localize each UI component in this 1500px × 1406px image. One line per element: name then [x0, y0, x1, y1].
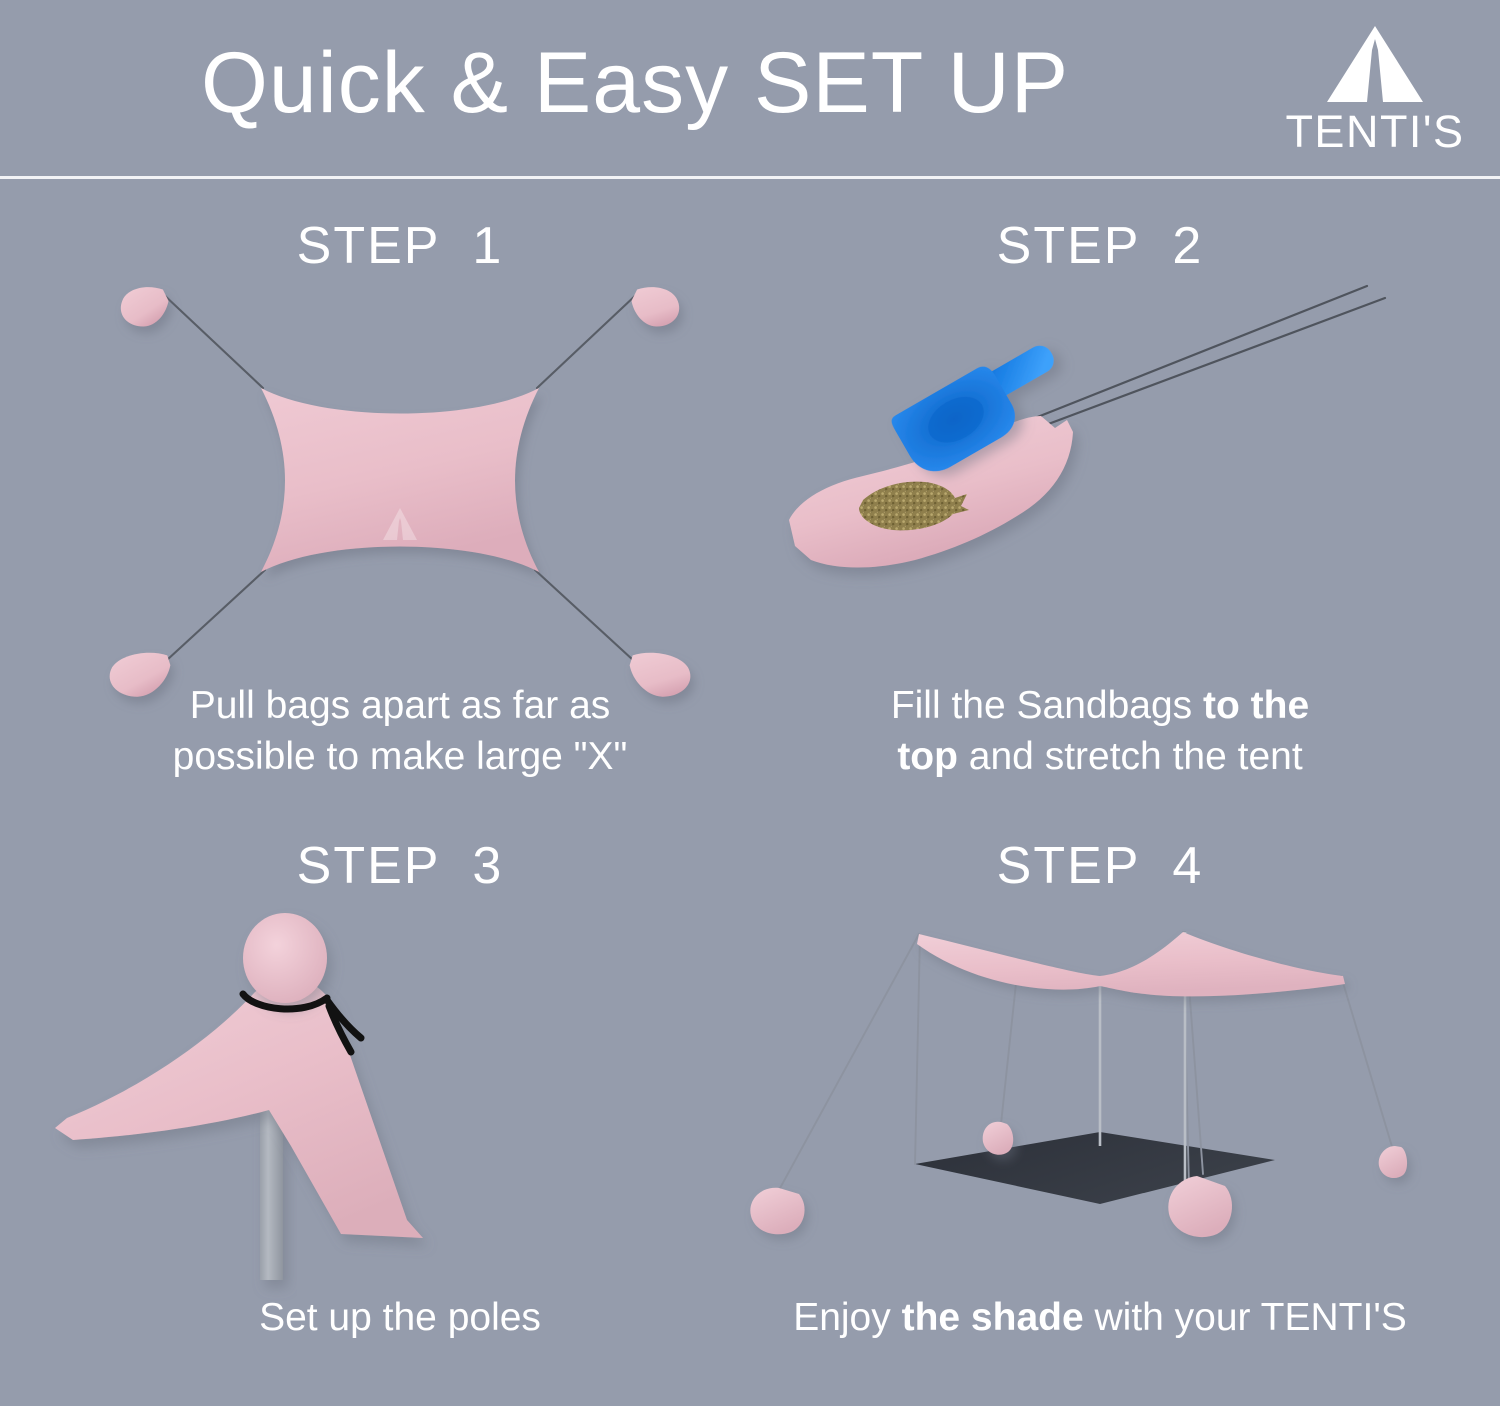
canopy-with-four-sandbags-illustration [55, 268, 745, 688]
step-1-title: STEP 1 [55, 216, 745, 276]
step-3-title: STEP 3 [55, 836, 745, 896]
step-1-caption: Pull bags apart as far as possible to ma… [55, 680, 745, 783]
assembled-beach-tent-illustration [755, 888, 1445, 1308]
step-2-caption-line-1: Fill the Sandbags to the [891, 684, 1309, 727]
sandbag-top-left [118, 284, 171, 329]
header-divider [0, 176, 1500, 179]
page-title: Quick & Easy SET UP [0, 38, 1270, 128]
step-1-caption-line-1: Pull bags apart as far as [190, 684, 611, 727]
step-4-title: STEP 4 [755, 836, 1445, 896]
step-1-caption-line-2: possible to make large "X" [173, 735, 628, 778]
canopy-sheet [261, 388, 539, 572]
step-4-caption-line-1: Enjoy the shade with your TENTI'S [793, 1296, 1407, 1339]
grey-pole [260, 1110, 283, 1280]
header: Quick & Easy SET UP TENTI'S [0, 0, 1500, 178]
step-2-caption-line-2: top and stretch the tent [897, 735, 1302, 778]
step-2-panel: STEP 2 [755, 190, 1445, 790]
step-3-caption-line-1: Set up the poles [259, 1296, 541, 1339]
pole-raising-canopy-illustration [55, 888, 745, 1308]
infographic-page: Quick & Easy SET UP TENTI'S STEP 1 [0, 0, 1500, 1406]
fabric-peak [55, 977, 423, 1238]
step-1-panel: STEP 1 [55, 190, 745, 790]
ball-knob [243, 913, 327, 1003]
brand-name: TENTI'S [1280, 106, 1470, 158]
brand-logo: TENTI'S [1280, 26, 1470, 156]
step-4-panel: STEP 4 [755, 810, 1445, 1406]
sandbag-top-right [628, 284, 681, 329]
step-4-caption: Enjoy the shade with your TENTI'S [755, 1292, 1445, 1343]
step-3-caption: Set up the poles [55, 1292, 745, 1343]
tent-logo-icon [1327, 26, 1423, 102]
step-2-caption: Fill the Sandbags to the top and stretch… [755, 680, 1445, 783]
canopy-roof [917, 932, 1345, 996]
step-3-panel: STEP 3 [55, 810, 745, 1406]
sandbag-being-filled-with-scoop-illustration [755, 268, 1445, 688]
two-cords [1035, 286, 1385, 426]
step-2-title: STEP 2 [755, 216, 1445, 276]
